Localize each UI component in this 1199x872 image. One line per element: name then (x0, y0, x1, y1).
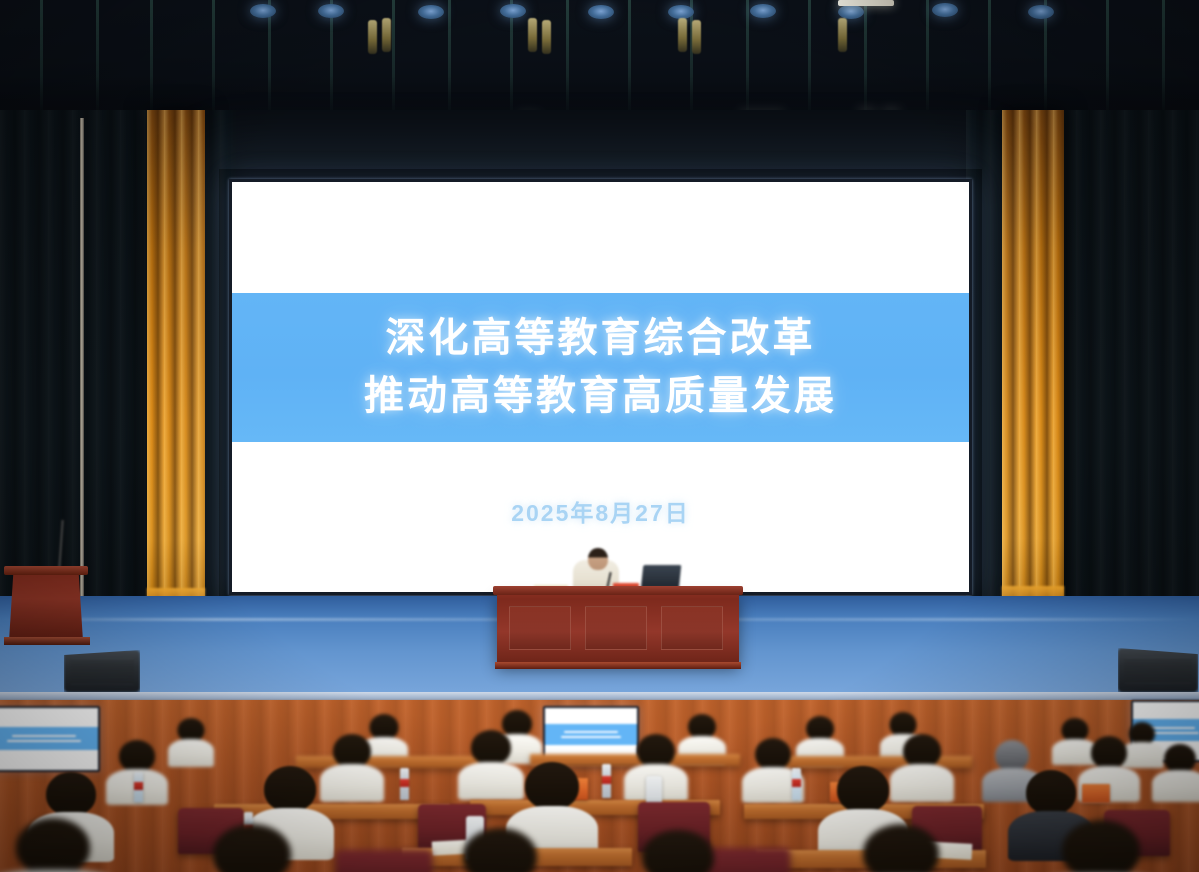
water-bottle (400, 768, 409, 800)
audience-chair (336, 850, 432, 872)
podium-base (4, 637, 90, 645)
audience-person (1034, 820, 1168, 872)
water-bottle (792, 768, 801, 800)
stage-light-icon (418, 5, 444, 19)
stage-light-icon (668, 5, 694, 19)
presidium-table (497, 592, 739, 664)
slide-title-line-1: 深化高等教育综合改革 (386, 313, 816, 364)
ceiling-light-bar-icon (838, 0, 894, 6)
curtain-gold-right (1002, 110, 1064, 608)
podium-top (4, 566, 88, 575)
stage-light-icon (500, 4, 526, 18)
stage-light-icon (588, 5, 614, 19)
audience-person (836, 824, 966, 872)
audience-person (436, 828, 564, 872)
projection-screen: 深化高等教育综合改革 推动高等教育高质量发展 2025年8月27日 (229, 179, 972, 595)
audience-person (1152, 744, 1199, 800)
stage-light-icon (250, 4, 276, 18)
audience-area (0, 700, 1199, 872)
stage-monitor-speaker-left (64, 650, 140, 692)
stage-light-icon (318, 4, 344, 18)
audience-person (616, 830, 740, 872)
water-bottle (134, 772, 143, 802)
stage-light-icon (838, 5, 864, 19)
stage-light-icon (1028, 5, 1054, 19)
audience-person (186, 824, 318, 872)
stage-light-icon (932, 3, 958, 17)
audience-person (168, 718, 214, 764)
slide-date: 2025年8月27日 (232, 494, 969, 528)
stage-monitor-speaker-right (1118, 648, 1198, 692)
audience-person (0, 818, 116, 872)
water-bottle (602, 764, 611, 798)
stage-light-icon (750, 4, 776, 18)
curtain-gold-left (147, 110, 205, 610)
stage-pole (80, 118, 84, 610)
conference-hall-scene: 深化高等教育综合改革 推动高等教育高质量发展 2025年8月27日 (0, 0, 1199, 872)
slide-title-band: 深化高等教育综合改革 推动高等教育高质量发展 (232, 293, 969, 443)
slide-title-line-2: 推动高等教育高质量发展 (364, 371, 837, 422)
speaker-head (588, 548, 608, 570)
podium (9, 571, 83, 641)
